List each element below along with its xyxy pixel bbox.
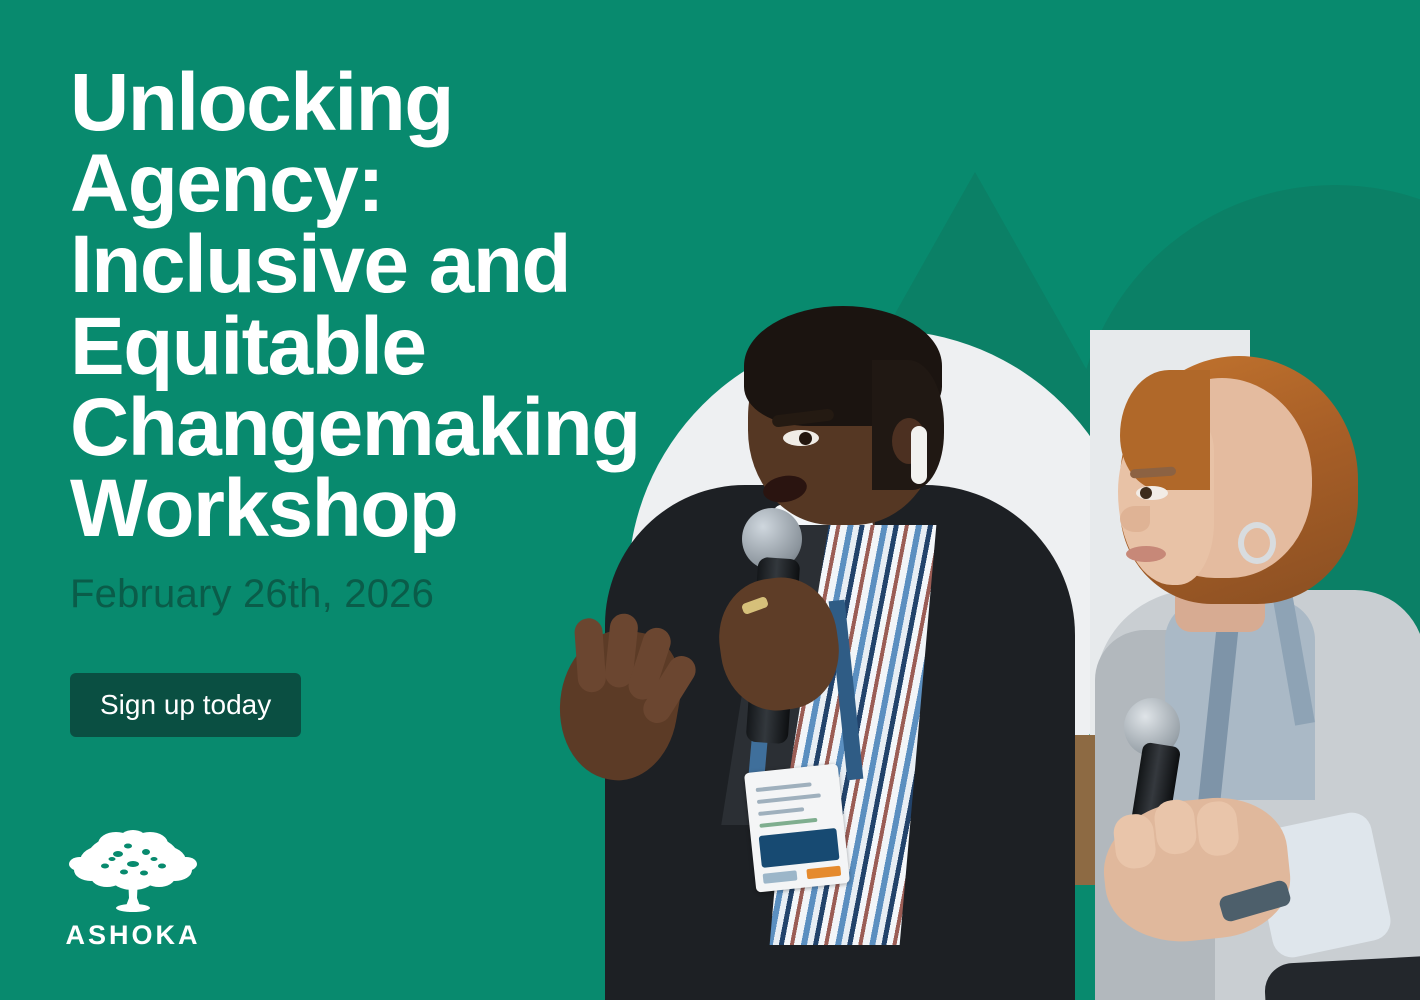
ashoka-logo[interactable]: ASHOKA <box>58 828 208 956</box>
page-title: Unlocking Agency: Inclusive and Equitabl… <box>70 62 760 549</box>
ashoka-wordmark: ASHOKA <box>58 920 208 951</box>
woman-eye <box>1136 486 1168 500</box>
badge-text-line <box>759 818 817 828</box>
badge-sponsor-mark <box>763 870 798 883</box>
man-earpiece <box>911 426 927 484</box>
woman-lips <box>1126 546 1166 562</box>
woman-finger <box>1153 798 1198 856</box>
badge-graphic <box>759 828 840 868</box>
woman-hoop-earring <box>1238 522 1276 564</box>
badge-text-line <box>758 807 804 816</box>
event-promo-banner: Unlocking Agency: Inclusive and Equitabl… <box>0 0 1420 1000</box>
woman-finger <box>1195 800 1240 858</box>
badge-text-line <box>756 782 812 792</box>
badge-text-line <box>757 793 821 804</box>
man-eye <box>783 430 819 446</box>
badge-sponsor-mark <box>806 866 841 879</box>
woman-finger <box>1112 812 1157 870</box>
tree-icon <box>58 828 208 920</box>
sign-up-button[interactable]: Sign up today <box>70 673 301 737</box>
woman-nose <box>1120 506 1150 532</box>
event-date: February 26th, 2026 <box>70 572 434 617</box>
banner-content: Unlocking Agency: Inclusive and Equitabl… <box>0 0 760 1000</box>
